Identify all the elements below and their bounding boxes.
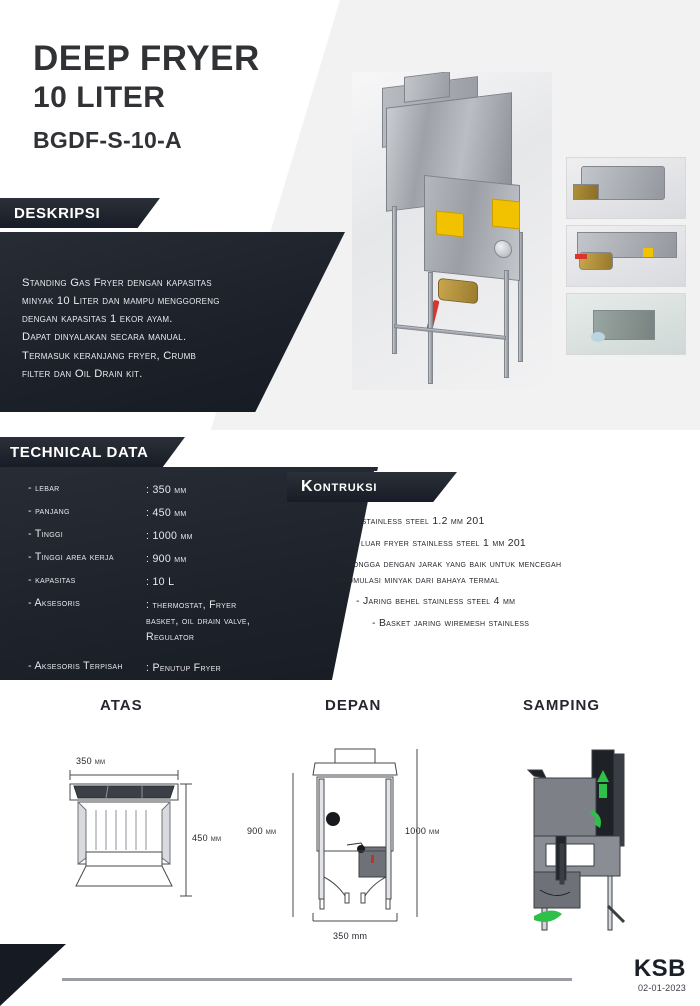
fryer-cross-rail [394,324,506,340]
kontruksi-item: - Jaring behel stainless steel 4 mm [300,594,690,610]
section-header-technical-data: TECHNICAL DATA [0,437,185,467]
section-header-kontruksi: Kontruksi [287,472,457,502]
spec-value: : 1000 mm [146,528,308,544]
spec-value: : 900 mm [146,551,308,567]
spec-key: - Tinggi [28,528,146,544]
kontruksi-item: - Bak fryer stainless steel 1.2 mm 201 [300,514,690,530]
brand-name: KSB [634,957,686,981]
warning-label-icon [436,211,464,238]
spec-row: - lebar : 350 mm [28,482,308,498]
title-line-1: DEEP FRYER [33,40,353,77]
warning-label-icon [492,199,520,230]
deskripsi-label: DESKRIPSI [14,205,100,222]
spec-row: - Aksesoris : thermostat, Fryer basket, … [28,597,308,646]
footer-divider [62,978,572,981]
kontruksi-item: - Rongga dengan jarak yang baik untuk me… [300,557,690,588]
spec-value: : 450 mm [146,505,308,521]
drawing-samping [500,740,650,935]
specification-list: - lebar : 350 mm - panjang : 450 mm - Ti… [28,482,308,706]
product-spec-sheet: DEEP FRYER 10 LITER BGDF-S-10-A DESK [0,0,700,1006]
drawing-depan [285,735,425,930]
spec-value: : 350 mm [146,482,308,498]
technical-data-label: TECHNICAL DATA [10,444,148,461]
kontruksi-list: - Bak fryer stainless steel 1.2 mm 201 -… [300,514,690,638]
dim-depan-width: 350 mm [333,931,367,941]
spec-row: - panjang : 450 mm [28,505,308,521]
drawing-title-atas: ATAS [100,697,143,714]
product-thumbnail-basket [566,293,686,355]
spec-value: : Penutup Fryer [146,660,308,676]
fryer-leg [392,206,397,354]
spec-value: : thermostat, Fryer basket, oil drain va… [146,597,308,646]
fryer-leg [504,270,509,378]
page-title: DEEP FRYER 10 LITER BGDF-S-10-A [33,40,353,154]
brass-drain-valve [438,278,478,304]
spec-key: - panjang [28,505,146,521]
spec-row: - Aksesoris Terpisah : Penutup Fryer [28,660,308,676]
drawing-title-samping: SAMPING [523,697,600,714]
spec-key: - lebar [28,482,146,498]
kontruksi-item: - Cover luar fryer stainless steel 1 mm … [300,536,690,552]
spec-row: - Tinggi area kerja : 900 mm [28,551,308,567]
footer-corner-decoration [0,944,66,1006]
model-code: BGDF-S-10-A [33,127,353,154]
description-text: Standing Gas Fryer dengan kapasitas miny… [22,274,312,383]
drawing-title-depan: DEPAN [325,697,381,714]
product-thumbnail-valve [566,225,686,287]
section-header-deskripsi: DESKRIPSI [0,198,160,228]
kontruksi-label: Kontruksi [301,478,377,496]
product-photo-main [352,72,552,390]
document-date: 02-01-2023 [634,983,686,993]
spec-row: - Tinggi : 1000 mm [28,528,308,544]
spec-row: - kapasitas : 10 L [28,574,308,590]
spec-key: - Aksesoris [28,597,146,646]
spec-key: - kapasitas [28,574,146,590]
spec-value: : 10 L [146,574,308,590]
dim-depan-work-height: 900 mm [247,826,276,836]
kontruksi-item: - Basket jaring wiremesh stainless [300,616,690,632]
title-line-2: 10 LITER [33,80,353,116]
drawing-atas [60,766,250,906]
spec-key: - Aksesoris Terpisah [28,660,146,676]
dim-atas-width: 350 mm [76,756,105,766]
footer-logo: KSB 02-01-2023 [634,957,686,993]
spec-key: - Tinggi area kerja [28,551,146,567]
product-thumbnail-top-view [566,157,686,219]
